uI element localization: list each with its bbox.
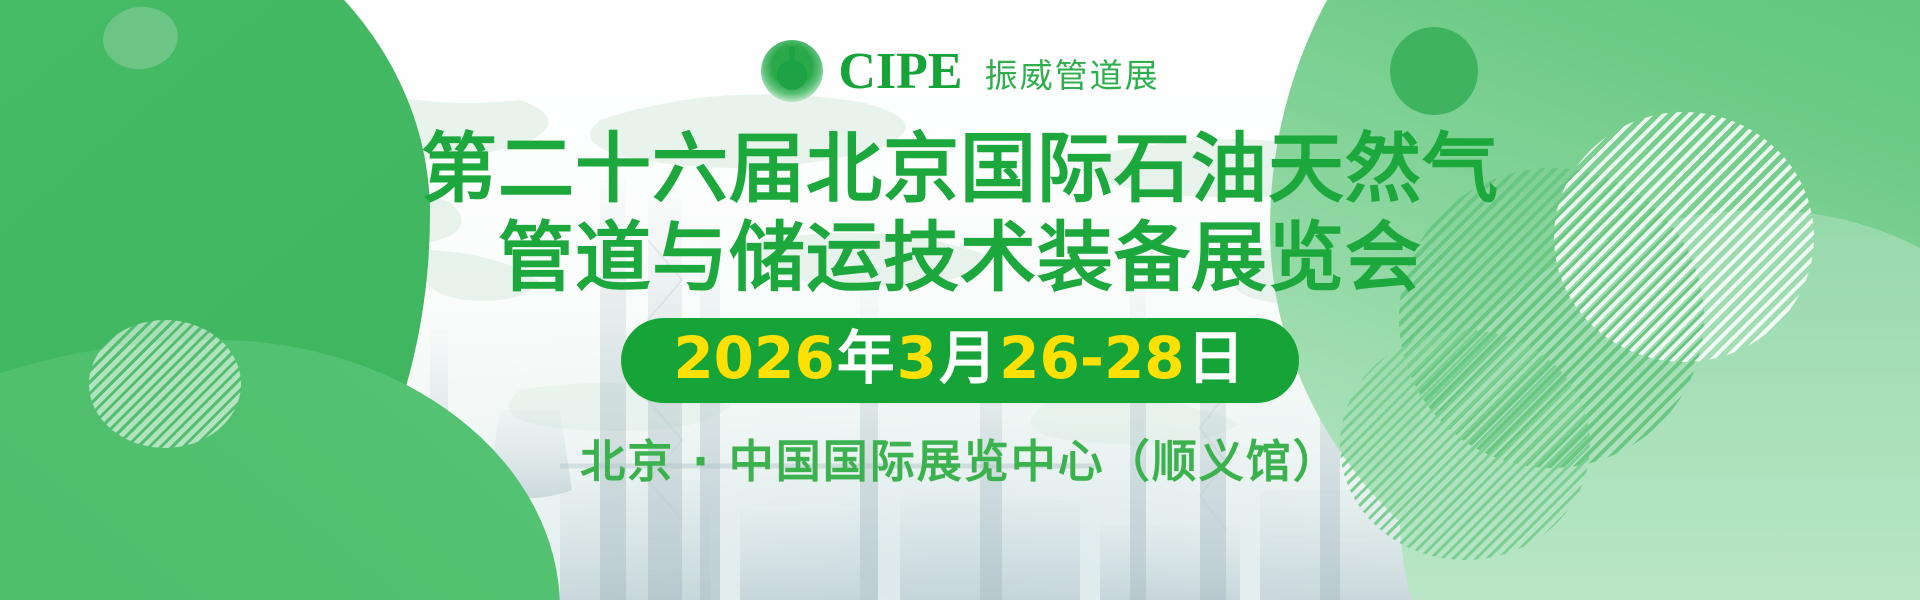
title-line-2: 管道与储运技术装备展览会 (421, 215, 1499, 300)
cipe-circle-logo-icon (760, 39, 824, 103)
logo-chinese-name: 振威管道展 (985, 59, 1160, 92)
date-days: 26-28 (999, 328, 1185, 389)
date-year: 2026 (673, 328, 834, 389)
cipe-exhibition-banner: CIPE 振威管道展 第二十六届北京国际石油天然气 管道与储运技术装备展览会 2… (0, 0, 1920, 600)
date-month: 3 (897, 328, 937, 389)
logo-acronym: CIPE (838, 46, 962, 98)
brand-lockup: CIPE 振威管道展 (760, 38, 1159, 104)
venue-text: 北京 · 中国国际展览中心（顺义馆） (580, 425, 1339, 490)
date-month-label: 月 (937, 328, 999, 389)
date-badge: 2026 年 3 月 26-28 日 (621, 318, 1298, 403)
banner-content: CIPE 振威管道展 第二十六届北京国际石油天然气 管道与储运技术装备展览会 2… (0, 0, 1920, 600)
date-year-label: 年 (835, 328, 897, 389)
date-day-label: 日 (1185, 328, 1247, 389)
page-title: 第二十六届北京国际石油天然气 管道与储运技术装备展览会 (421, 126, 1499, 300)
title-line-1: 第二十六届北京国际石油天然气 (421, 126, 1499, 211)
